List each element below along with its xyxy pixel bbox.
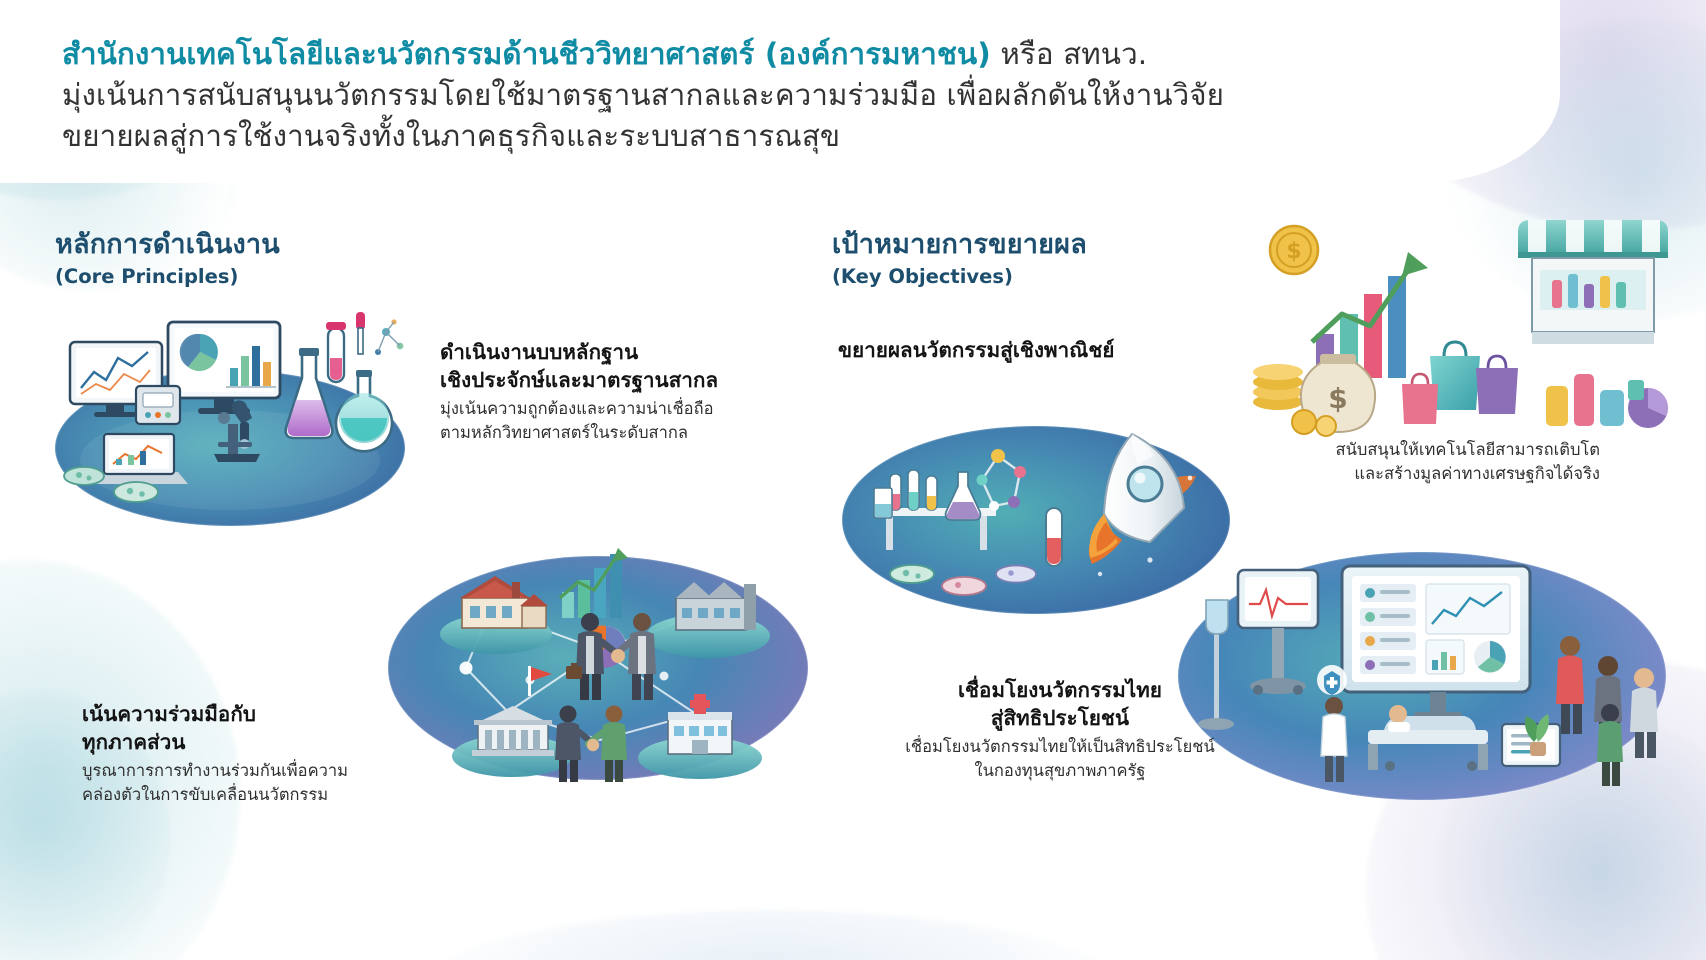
health-benefit-text-block: เชื่อมโยงนวัตกรรมไทย สู่สิทธิประโยชน์ เช…: [900, 676, 1220, 783]
key-objectives-title-en: (Key Objectives): [832, 263, 1652, 290]
collaboration-text-block: เน้นความร่วมมือกับ ทุกภาคส่วน บูรณาการกา…: [82, 700, 412, 807]
key-objectives-title-th: เป้าหมายการขยายผล: [832, 228, 1652, 262]
evidence-based-heading-line1: ดำเนินงานบบหลักฐาน: [440, 338, 770, 366]
multi-sector-network-illustration: [378, 500, 818, 790]
core-principles-title-th: หลักการดำเนินงาน: [55, 228, 815, 262]
health-benefit-body-line1: เชื่อมโยงนวัตกรรมไทยให้เป็นสิทธิประโยชน์: [900, 735, 1220, 759]
commercialization-heading-block: ขยายผลนวัตกรรมสู่เชิงพาณิชย์: [838, 336, 1238, 364]
health-benefit-heading-line2: สู่สิทธิประโยชน์: [900, 704, 1220, 732]
collaboration-body-line1: บูรณาการการทำงานร่วมกันเพื่อความ: [82, 759, 412, 783]
laboratory-science-illustration: [48, 300, 448, 530]
header-line-1: สำนักงานเทคโนโลยีและนวัตกรรมด้านชีววิทยา…: [62, 34, 1500, 75]
header-banner: สำนักงานเทคโนโลยีและนวัตกรรมด้านชีววิทยา…: [0, 0, 1560, 183]
key-objectives-column: เป้าหมายการขยายผล (Key Objectives): [832, 228, 1652, 290]
evidence-based-body-line2: ตามหลักวิทยาศาสตร์ในระดับสากล: [440, 421, 770, 445]
health-benefit-body-line2: ในกองทุนสุขภาพภาครัฐ: [900, 759, 1220, 783]
header-line-3: ขยายผลสู่การใช้งานจริงทั้งในภาคธุรกิจและ…: [62, 116, 1500, 157]
core-principles-column: หลักการดำเนินงาน (Core Principles): [55, 228, 815, 290]
core-principles-title-en: (Core Principles): [55, 263, 815, 290]
collaboration-heading-line2: ทุกภาคส่วน: [82, 728, 412, 756]
evidence-based-heading-line2: เชิงประจักษ์และมาตรฐานสากล: [440, 366, 770, 394]
header-line-2: มุ่งเน้นการสนับสนุนนวัตกรรมโดยใช้มาตรฐาน…: [62, 75, 1500, 116]
health-benefit-heading-line1: เชื่อมโยงนวัตกรรมไทย: [900, 676, 1220, 704]
header-rest-text: หรือ สทนว.: [991, 37, 1147, 71]
commercialization-heading-line1: ขยายผลนวัตกรรมสู่เชิงพาณิชย์: [838, 336, 1238, 364]
evidence-based-body-line1: มุ่งเน้นความถูกต้องและความน่าเชื่อถือ: [440, 397, 770, 421]
evidence-based-text-block: ดำเนินงานบบหลักฐาน เชิงประจักษ์และมาตรฐา…: [440, 338, 770, 445]
collaboration-heading-line1: เน้นความร่วมมือกับ: [82, 700, 412, 728]
collaboration-body-line2: คล่องตัวในการขับเคลื่อนนวัตกรรม: [82, 783, 412, 807]
svg-text:$: $: [1328, 382, 1347, 415]
header-accent-text: สำนักงานเทคโนโลยีและนวัตกรรมด้านชีววิทยา…: [62, 37, 991, 71]
blob-bottom-center-icon: [420, 910, 1120, 960]
healthcare-digital-illustration: [1172, 508, 1692, 808]
